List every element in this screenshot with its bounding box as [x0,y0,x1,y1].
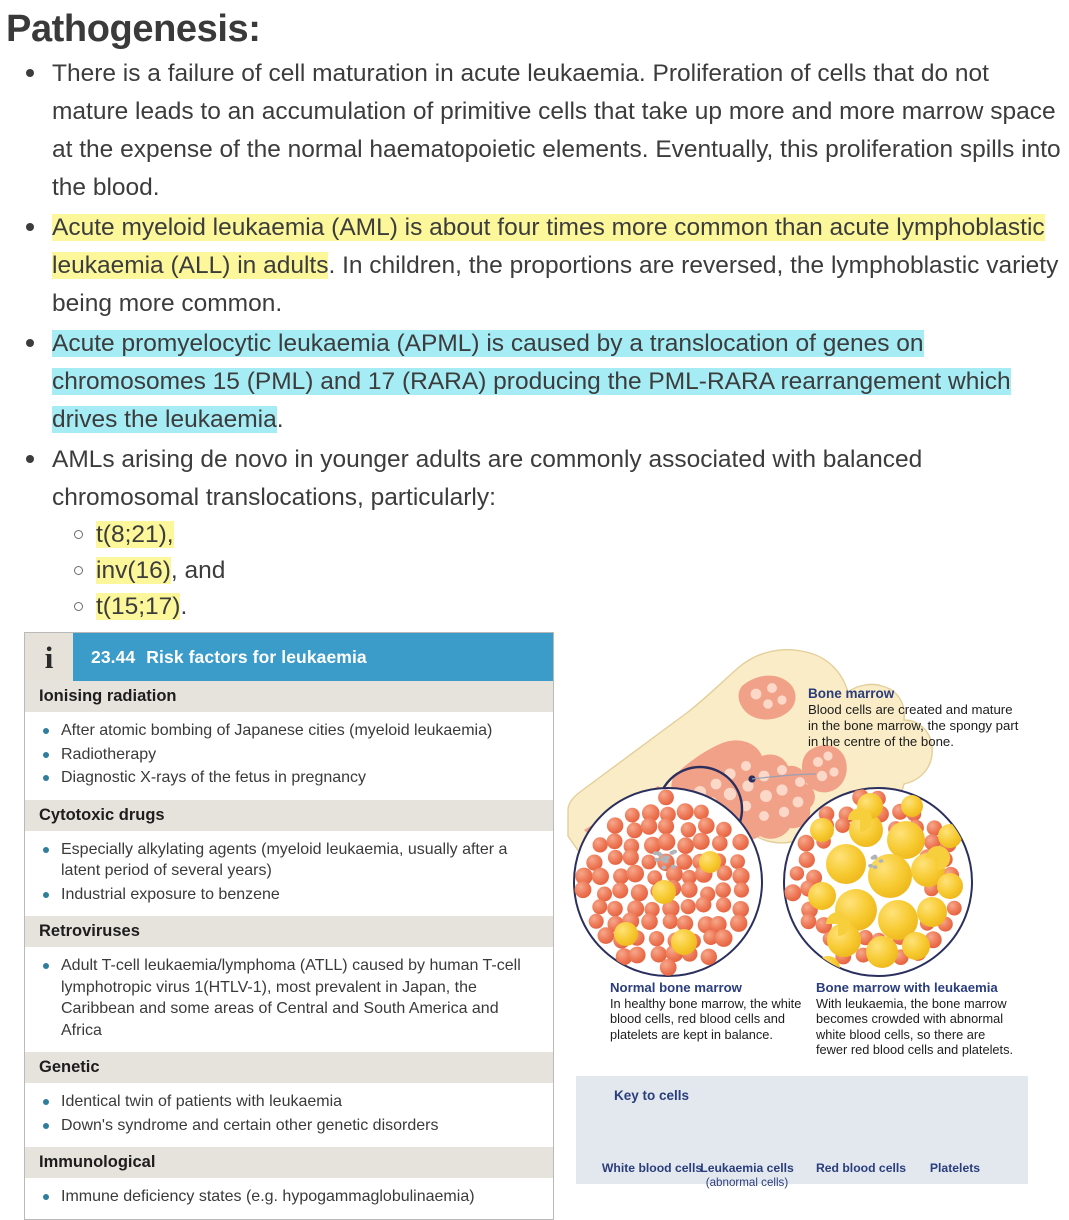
key-item-sublabel: (abnormal cells) [672,1176,822,1190]
note-text-segment: There is a failure of cell maturation in… [52,60,1061,201]
caption-body: With leukaemia, the bone marrow becomes … [816,996,1014,1058]
red-blood-cell [641,913,658,930]
red-blood-cell [798,835,815,852]
red-blood-cell [947,901,962,916]
red-blood-cell [641,818,658,835]
red-blood-cell [597,887,612,902]
red-blood-cell [629,947,646,964]
infobox-title-bar: 23.44 Risk factors for leukaemia [73,633,553,681]
note-bullet-item: Acute promyelocytic leukaemia (APML) is … [0,325,1069,439]
infobox-list-item: Immune deficiency states (e.g. hypogamma… [39,1186,539,1208]
infobox-item-text: Immune deficiency states (e.g. hypogamma… [61,1188,475,1205]
leukaemia-marrow-caption: Bone marrow with leukaemia With leukaemi… [816,980,1014,1058]
infobox-item-text: Diagnostic X-rays of the fetus in pregna… [61,769,366,786]
white-blood-cell [614,922,638,946]
infobox-section-list: Especially alkylating agents (myeloid le… [25,831,553,917]
red-blood-cell [627,823,643,839]
infobox-section-list: Immune deficiency states (e.g. hypogamma… [25,1178,553,1219]
caption-title: Bone marrow with leukaemia [816,980,1014,995]
normal-marrow-circle [574,788,762,976]
infobox-section-heading: Immunological [25,1147,553,1178]
infobox-section-list: Identical twin of patients with leukaemi… [25,1083,553,1147]
red-blood-cell [598,927,615,944]
note-text: AMLs arising de novo in younger adults a… [52,446,922,511]
note-text-segment: . [277,406,284,433]
note-text-segment: Acute promyelocytic leukaemia (APML) is … [52,330,1011,433]
red-blood-cell [607,901,623,917]
note-sub-item: t(8;21), [52,517,1069,553]
red-blood-cell [716,897,731,912]
red-blood-cell [677,803,694,820]
callout-title: Bone marrow [808,686,1023,701]
red-blood-cell [715,882,731,898]
red-blood-cell [592,899,607,914]
note-sub-text: t(15;17). [96,593,187,620]
infobox-item-text: Identical twin of patients with leukaemi… [61,1093,342,1110]
list-bullet-dot [43,963,49,969]
info-icon: i [25,633,73,681]
red-blood-cell [660,959,677,976]
leukaemia-cell [902,932,930,960]
red-blood-cell [608,850,623,865]
note-sub-item: inv(16), and [52,553,1069,589]
white-blood-cell [671,929,697,955]
red-blood-cell [681,881,698,898]
red-blood-cell [696,897,712,913]
red-blood-cell [631,884,648,901]
hollow-bullet-marker [74,530,83,539]
red-blood-cell [734,882,749,897]
infobox-list-item: After atomic bombing of Japanese cities … [39,720,539,742]
red-blood-cell [835,818,850,833]
list-bullet-dot [43,847,49,853]
bullet-marker [26,223,34,231]
infobox-section-heading: Retroviruses [25,916,553,947]
note-sub-text: inv(16), and [96,557,225,584]
red-blood-cell [677,837,694,854]
infobox-list-item: Adult T-cell leukaemia/lymphoma (ATLL) c… [39,955,539,1041]
red-blood-cell [593,837,608,852]
infobox-section-heading: Genetic [25,1052,553,1083]
red-blood-cell [790,866,804,880]
red-blood-cell [693,833,710,850]
red-blood-cell [607,833,623,849]
note-sub-item: t(15;17). [52,589,1069,625]
leukaemia-cell [808,882,836,910]
red-blood-cell [799,852,815,868]
leukaemia-cell [937,873,963,899]
note-text-segment: AMLs arising de novo in younger adults a… [52,446,922,511]
red-blood-cell [575,881,592,898]
red-blood-cell [715,929,733,947]
note-text-segment: t(8;21), [96,521,174,548]
note-text: Acute myeloid leukaemia (AML) is about f… [52,214,1058,317]
list-bullet-dot [43,892,49,898]
note-sub-text: t(8;21), [96,521,174,548]
list-bullet-dot [43,1123,49,1129]
red-blood-cell [658,833,675,850]
infobox-item-text: Down's syndrome and certain other geneti… [61,1117,438,1134]
note-text-segment: t(15;17) [96,593,180,620]
note-bullet-item: Acute myeloid leukaemia (AML) is about f… [0,209,1069,323]
infobox-item-text: Especially alkylating agents (myeloid le… [61,841,507,880]
note-text: Acute promyelocytic leukaemia (APML) is … [52,330,1011,433]
list-bullet-dot [43,752,49,758]
list-bullet-dot [43,1194,49,1200]
list-bullet-dot [43,1099,49,1105]
infobox-item-text: After atomic bombing of Japanese cities … [61,722,492,739]
white-blood-cell [699,851,721,873]
infobox-list-item: Down's syndrome and certain other geneti… [39,1115,539,1137]
lower-content-area: i 23.44 Risk factors for leukaemia Ionis… [0,624,1069,1217]
list-bullet-dot [43,728,49,734]
key-item-label: Platelets [900,1162,1010,1176]
infobox-item-text: Industrial exposure to benzene [61,886,280,903]
infobox-list-item: Especially alkylating agents (myeloid le… [39,839,539,882]
red-blood-cell [626,865,644,883]
red-blood-cell [607,817,623,833]
infobox-section-heading: Ionising radiation [25,681,553,712]
infobox-section-list: Adult T-cell leukaemia/lymphoma (ATLL) c… [25,947,553,1052]
bone-marrow-callout: Bone marrow Blood cells are created and … [808,686,1023,749]
leukaemia-cell [868,854,912,898]
red-blood-cell [730,915,747,932]
leukaemia-cell [887,821,925,859]
red-blood-cell [681,899,696,914]
red-blood-cell [784,884,801,901]
infobox-item-text: Adult T-cell leukaemia/lymphoma (ATLL) c… [61,957,521,1039]
red-blood-cell [592,868,609,885]
red-blood-cell [716,822,732,838]
leukaemia-cell [826,844,866,884]
red-blood-cell [613,868,629,884]
red-blood-cell [694,805,709,820]
leukaemia-marrow-circle [784,788,972,980]
note-sub-list: t(8;21),inv(16), andt(15;17). [52,517,1069,625]
note-text: There is a failure of cell maturation in… [52,60,1061,201]
red-blood-cell [625,808,640,823]
note-text-segment: . [180,593,187,620]
leukaemia-cell [938,824,962,848]
red-blood-cell [663,914,678,929]
pathogenesis-note-list: There is a failure of cell maturation in… [0,55,1069,625]
red-blood-cell [712,835,728,851]
note-bullet-item: There is a failure of cell maturation in… [0,55,1069,207]
normal-marrow-caption: Normal bone marrow In healthy bone marro… [610,980,808,1042]
page-title: Pathogenesis: [6,8,1069,51]
red-blood-cell [681,822,696,837]
note-text-segment: , and [171,557,226,584]
red-blood-cell [658,790,674,806]
risk-factors-infobox: i 23.44 Risk factors for leukaemia Ionis… [24,632,554,1220]
hollow-bullet-marker [74,602,83,611]
red-blood-cell [698,817,715,834]
red-blood-cell [730,854,745,869]
leukaemia-cell [866,936,898,968]
leukaemia-cell [901,795,923,817]
infobox-list-item: Industrial exposure to benzene [39,884,539,906]
red-blood-cell [612,883,628,899]
leukaemia-cell [810,818,834,842]
bullet-marker [26,455,34,463]
callout-body: Blood cells are created and mature in th… [808,702,1023,749]
infobox-section-heading: Cytotoxic drugs [25,800,553,831]
red-blood-cell [732,868,749,885]
hollow-bullet-marker [74,566,83,575]
red-blood-cell [732,834,748,850]
infobox-list-item: Radiotherapy [39,744,539,766]
key-to-cells-title: Key to cells [614,1088,689,1103]
infobox-list-item: Identical twin of patients with leukaemi… [39,1091,539,1113]
red-blood-cell [642,855,657,870]
bullet-marker [26,339,34,347]
caption-title: Normal bone marrow [610,980,808,995]
leukaemia-cell [917,897,947,927]
bone-marrow-diagram: Bone marrow Blood cells are created and … [560,624,1069,1217]
caption-body: In healthy bone marrow, the white blood … [610,996,808,1042]
red-blood-cell [649,931,664,946]
note-bullet-item: AMLs arising de novo in younger adults a… [0,441,1069,625]
red-blood-cell [589,914,604,929]
leukaemia-cell [816,956,840,980]
red-blood-cell [701,949,717,965]
infobox-section-list: After atomic bombing of Japanese cities … [25,712,553,800]
white-blood-cell [652,880,676,904]
infobox-number: 23.44 [91,647,135,668]
list-bullet-dot [43,775,49,781]
infobox-title: Risk factors for leukaemia [146,647,366,668]
key-item-platelets: Platelets [900,1162,1010,1176]
red-blood-cell [623,849,639,865]
note-text-segment: inv(16) [96,557,171,584]
bullet-marker [26,69,34,77]
infobox-body: Ionising radiationAfter atomic bombing o… [25,681,553,1219]
infobox-list-item: Diagnostic X-rays of the fetus in pregna… [39,767,539,789]
infobox-header: i 23.44 Risk factors for leukaemia [25,633,553,681]
red-blood-cell [658,818,674,834]
infobox-item-text: Radiotherapy [61,746,156,763]
red-blood-cell [801,914,817,930]
